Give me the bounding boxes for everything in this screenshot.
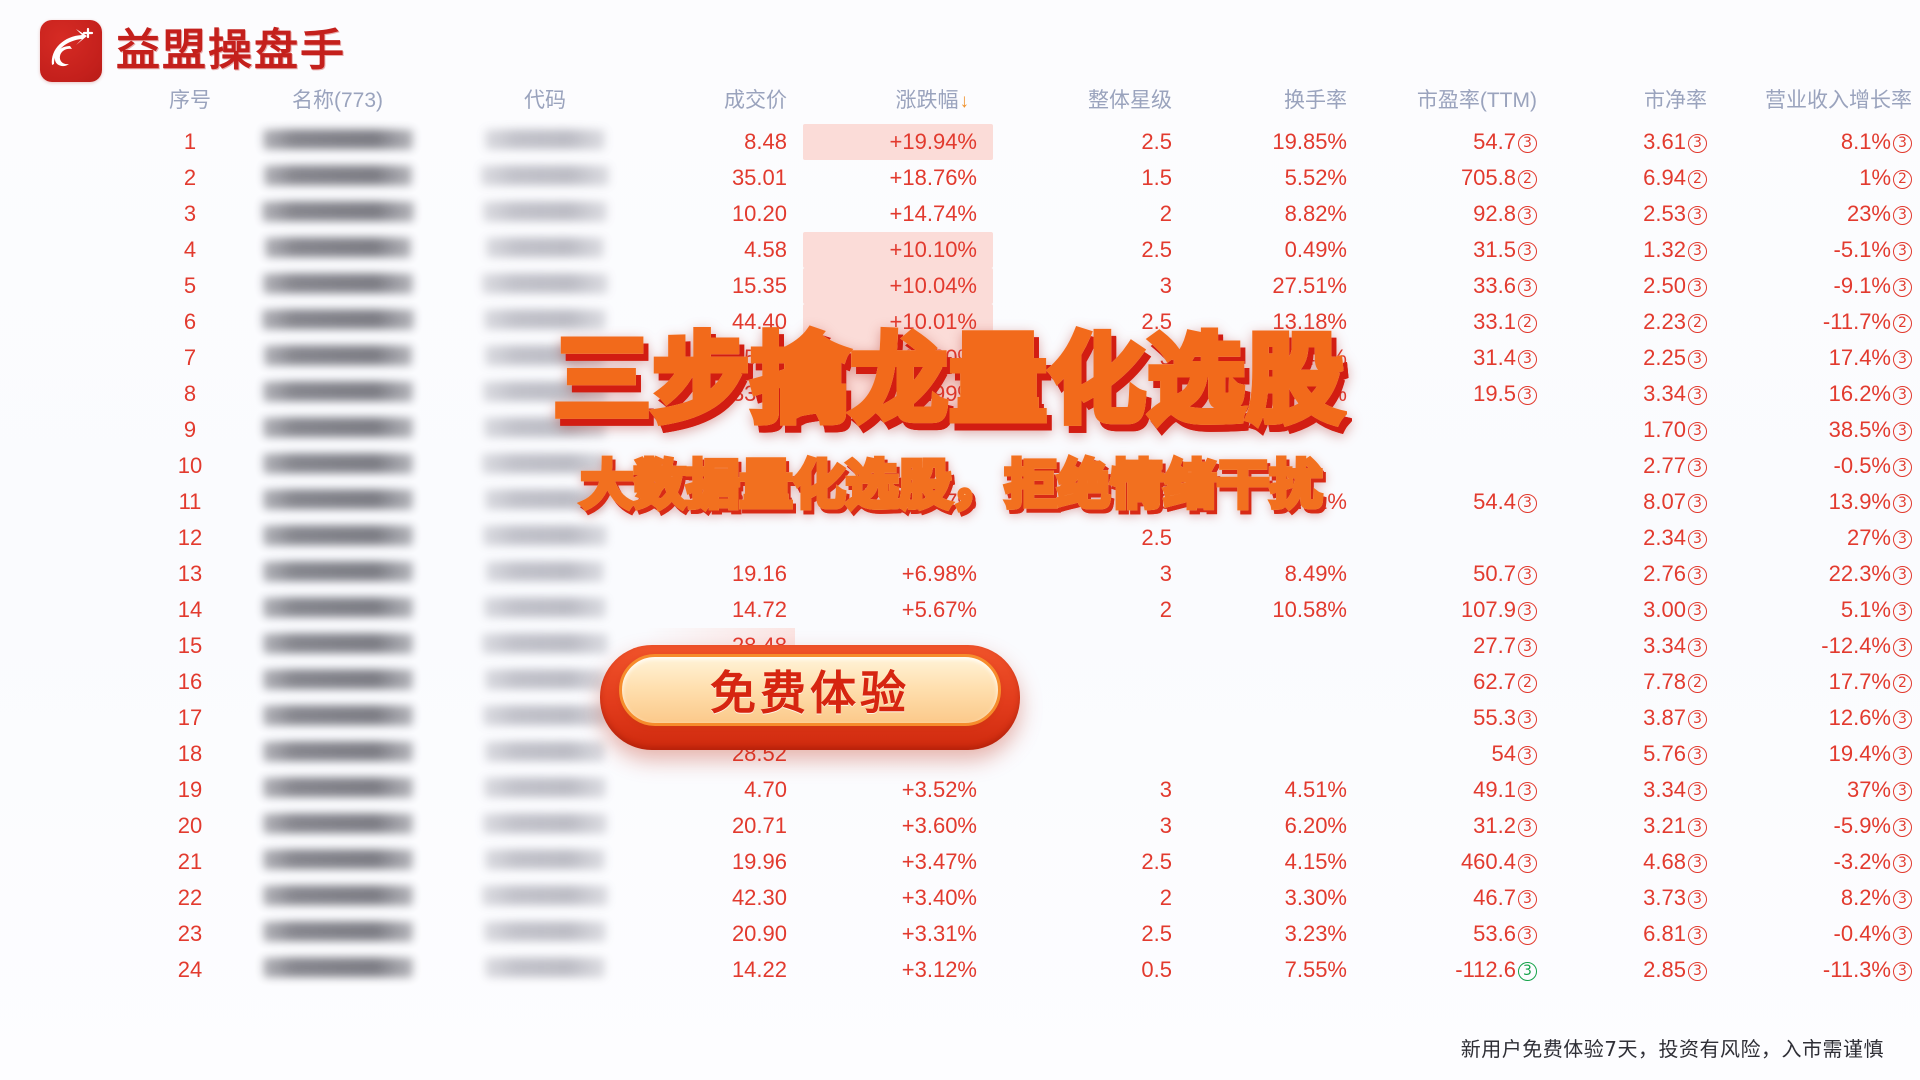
cell-name-censored[interactable] bbox=[230, 304, 445, 340]
cell-index: 22 bbox=[150, 880, 230, 916]
free-trial-cta[interactable]: 免费体验 bbox=[600, 645, 1020, 750]
cell-pb: 3.003 bbox=[1545, 592, 1715, 628]
cell-pb: 2.533 bbox=[1545, 196, 1715, 232]
table-row[interactable]: 194.70+3.52%34.51%49.133.34337%3 bbox=[150, 772, 1920, 808]
cell-revenue-growth: 19.4%3 bbox=[1715, 736, 1920, 772]
cell-index: 10 bbox=[150, 448, 230, 484]
table-row[interactable]: 1828.525435.76319.4%3 bbox=[150, 736, 1920, 772]
cell-turnover bbox=[1180, 520, 1355, 556]
cell-pe: 62.72 bbox=[1355, 664, 1545, 700]
rank-badge: 3 bbox=[1688, 890, 1707, 909]
cell-index: 15 bbox=[150, 628, 230, 664]
table-row[interactable]: 2242.30+3.40%23.30%46.733.7338.2%3 bbox=[150, 880, 1920, 916]
censored-name-bar bbox=[263, 633, 413, 653]
cell-stars: 2.5 bbox=[985, 520, 1180, 556]
cell-turnover: 13.18% bbox=[1180, 304, 1355, 340]
cell-change: +10.10% bbox=[795, 232, 985, 268]
cell-name-censored[interactable] bbox=[230, 592, 445, 628]
cell-price: 19.96 bbox=[645, 844, 795, 880]
cell-code-censored[interactable] bbox=[445, 592, 645, 628]
rank-badge: 3 bbox=[1893, 458, 1912, 477]
rank-badge: 3 bbox=[1688, 710, 1707, 729]
cell-change: +19.94% bbox=[795, 124, 985, 160]
rank-badge: 3 bbox=[1688, 278, 1707, 297]
cell-name-censored[interactable] bbox=[230, 952, 445, 988]
cell-name-censored[interactable] bbox=[230, 772, 445, 808]
rank-badge: 3 bbox=[1518, 746, 1537, 765]
cell-turnover: 5.52% bbox=[1180, 160, 1355, 196]
rank-badge: 3 bbox=[1688, 746, 1707, 765]
cell-price: 4.58 bbox=[645, 232, 795, 268]
cell-name-censored[interactable] bbox=[230, 664, 445, 700]
rank-badge: 2 bbox=[1518, 170, 1537, 189]
rank-badge: 3 bbox=[1688, 386, 1707, 405]
rank-badge: 3 bbox=[1893, 386, 1912, 405]
column-header-stars[interactable]: 整体星级 bbox=[985, 80, 1180, 124]
cell-pb: 8.073 bbox=[1545, 484, 1715, 520]
table-row[interactable]: 310.20+14.74%28.82%92.832.53323%3 bbox=[150, 196, 1920, 232]
column-header-price[interactable]: 成交价 bbox=[645, 80, 795, 124]
cell-code-censored[interactable] bbox=[445, 952, 645, 988]
rank-badge: 3 bbox=[1518, 818, 1537, 837]
cell-stars bbox=[985, 412, 1180, 448]
censored-name-bar bbox=[263, 705, 413, 725]
cell-stars: 3 bbox=[985, 340, 1180, 376]
table-row[interactable]: 1528.4827.733.343-12.4%3 bbox=[150, 628, 1920, 664]
rank-badge: 3 bbox=[1893, 242, 1912, 261]
cell-turnover: 10.58% bbox=[1180, 592, 1355, 628]
rank-badge: 3 bbox=[1518, 602, 1537, 621]
rank-badge: 3 bbox=[1518, 242, 1537, 261]
rank-badge: 3 bbox=[1893, 782, 1912, 801]
cell-pe: 54.73 bbox=[1355, 124, 1545, 160]
table-row[interactable]: 1655.0762.727.78217.7%2 bbox=[150, 664, 1920, 700]
table-row[interactable]: 2414.22+3.12%0.57.55%-112.632.853-11.3%3 bbox=[150, 952, 1920, 988]
cell-pe: 53.63 bbox=[1355, 916, 1545, 952]
rank-badge: 2 bbox=[1518, 674, 1537, 693]
cell-index: 14 bbox=[150, 592, 230, 628]
cell-code-censored[interactable] bbox=[445, 160, 645, 196]
change-highlight: +9.99% bbox=[803, 376, 993, 412]
sort-desc-icon: ↓ bbox=[960, 91, 970, 112]
cell-index: 23 bbox=[150, 916, 230, 952]
cell-pe: 54.43 bbox=[1355, 484, 1545, 520]
cell-revenue-growth: 1%2 bbox=[1715, 160, 1920, 196]
cell-code-censored[interactable] bbox=[445, 376, 645, 412]
table-row[interactable]: 2119.96+3.47%2.54.15%460.434.683-3.2%3 bbox=[150, 844, 1920, 880]
rank-badge: 2 bbox=[1893, 674, 1912, 693]
cell-turnover: 7.55% bbox=[1180, 952, 1355, 988]
cell-turnover: 3.23% bbox=[1180, 916, 1355, 952]
cell-index: 17 bbox=[150, 700, 230, 736]
rank-badge: 3 bbox=[1518, 638, 1537, 657]
cell-name-censored[interactable] bbox=[230, 700, 445, 736]
censored-code-bar bbox=[483, 201, 607, 221]
rank-badge: 3 bbox=[1688, 494, 1707, 513]
cell-pb: 1.323 bbox=[1545, 232, 1715, 268]
censored-name-bar bbox=[263, 849, 413, 869]
cell-stars: 2 bbox=[985, 880, 1180, 916]
cell-change: +10.00% bbox=[795, 340, 985, 376]
column-header-change-label: 涨跌幅 bbox=[896, 89, 959, 112]
censored-code-bar bbox=[485, 957, 605, 977]
table-row[interactable]: 1120.10+8.77%316.01%54.438.07313.9%3 bbox=[150, 484, 1920, 520]
cell-code-censored[interactable] bbox=[445, 412, 645, 448]
cell-pb: 5.763 bbox=[1545, 736, 1715, 772]
cell-pb: 3.343 bbox=[1545, 628, 1715, 664]
cell-pe: 107.93 bbox=[1355, 592, 1545, 628]
censored-name-bar bbox=[263, 597, 413, 617]
censored-name-bar bbox=[263, 777, 413, 797]
cell-stars: 2.5 bbox=[985, 232, 1180, 268]
table-row[interactable]: 122.52.34327%3 bbox=[150, 520, 1920, 556]
cell-turnover: 16.01% bbox=[1180, 484, 1355, 520]
cell-pe: 19.53 bbox=[1355, 376, 1545, 412]
cell-change: +5.67% bbox=[795, 592, 985, 628]
rank-badge: 3 bbox=[1518, 962, 1537, 981]
cell-name-censored[interactable] bbox=[230, 844, 445, 880]
cell-name-censored[interactable] bbox=[230, 448, 445, 484]
censored-code-bar bbox=[484, 777, 606, 797]
cell-pb: 6.813 bbox=[1545, 916, 1715, 952]
rank-badge: 2 bbox=[1688, 314, 1707, 333]
cell-price: 20.10 bbox=[645, 484, 795, 520]
cell-name-censored[interactable] bbox=[230, 628, 445, 664]
rank-badge: 3 bbox=[1893, 134, 1912, 153]
censored-code-bar bbox=[484, 597, 606, 617]
rank-badge: 2 bbox=[1893, 170, 1912, 189]
column-header-name[interactable]: 名称(773) bbox=[230, 80, 445, 124]
censored-name-bar bbox=[264, 165, 412, 185]
cell-pb: 2.343 bbox=[1545, 520, 1715, 556]
cell-index: 13 bbox=[150, 556, 230, 592]
cell-turnover: 0.49% bbox=[1180, 232, 1355, 268]
cell-code-censored[interactable] bbox=[445, 304, 645, 340]
censored-name-bar bbox=[263, 525, 413, 545]
censored-name-bar bbox=[263, 129, 413, 149]
cell-code-censored[interactable] bbox=[445, 232, 645, 268]
cell-pe: 705.82 bbox=[1355, 160, 1545, 196]
cell-change: +3.52% bbox=[795, 772, 985, 808]
cell-pe: 55.33 bbox=[1355, 700, 1545, 736]
cell-stars: 2 bbox=[985, 196, 1180, 232]
cell-stars: 3 bbox=[985, 808, 1180, 844]
cell-stars: 3 bbox=[985, 268, 1180, 304]
disclaimer-text: 新用户免费体验7天，投资有风险，入市需谨慎 bbox=[1461, 1033, 1884, 1062]
cell-index: 12 bbox=[150, 520, 230, 556]
cell-pb: 3.613 bbox=[1545, 124, 1715, 160]
cell-index: 1 bbox=[150, 124, 230, 160]
cell-name-censored[interactable] bbox=[230, 556, 445, 592]
rank-badge: 3 bbox=[1893, 602, 1912, 621]
cell-price: 14.72 bbox=[645, 592, 795, 628]
cell-revenue-growth: -11.7%2 bbox=[1715, 304, 1920, 340]
rank-badge: 3 bbox=[1893, 422, 1912, 441]
cell-price bbox=[645, 448, 795, 484]
cell-revenue-growth: 12.6%3 bbox=[1715, 700, 1920, 736]
cell-pb: 2.503 bbox=[1545, 268, 1715, 304]
censored-code-bar bbox=[483, 813, 607, 833]
table-row[interactable]: 2320.90+3.31%2.53.23%53.636.813-0.4%3 bbox=[150, 916, 1920, 952]
cell-index: 7 bbox=[150, 340, 230, 376]
cell-change: +10.01% bbox=[795, 304, 985, 340]
rank-badge: 3 bbox=[1893, 530, 1912, 549]
rank-badge: 3 bbox=[1688, 926, 1707, 945]
rank-badge: 3 bbox=[1893, 818, 1912, 837]
cell-pb: 2.773 bbox=[1545, 448, 1715, 484]
rank-badge: 3 bbox=[1893, 350, 1912, 369]
table-row[interactable]: 44.58+10.10%2.50.49%31.531.323-5.1%3 bbox=[150, 232, 1920, 268]
column-header-code[interactable]: 代码 bbox=[445, 80, 645, 124]
rank-badge: 3 bbox=[1688, 818, 1707, 837]
cell-turnover: 4.51% bbox=[1180, 772, 1355, 808]
cell-revenue-growth: 22.3%3 bbox=[1715, 556, 1920, 592]
column-header-revenue-growth[interactable]: 营业收入增长率 bbox=[1715, 80, 1920, 124]
cell-price: 15.35 bbox=[645, 268, 795, 304]
table-row[interactable]: 1737.7055.333.87312.6%3 bbox=[150, 700, 1920, 736]
censored-code-bar bbox=[483, 381, 607, 401]
cell-name-censored[interactable] bbox=[230, 808, 445, 844]
censored-code-bar bbox=[484, 417, 606, 437]
column-header-pb[interactable]: 市净率 bbox=[1545, 80, 1715, 124]
rank-badge: 2 bbox=[1688, 170, 1707, 189]
rank-badge: 3 bbox=[1518, 386, 1537, 405]
rank-badge: 3 bbox=[1688, 854, 1707, 873]
cell-revenue-growth: 8.2%3 bbox=[1715, 880, 1920, 916]
column-header-index[interactable]: 序号 bbox=[150, 80, 230, 124]
table-header-row: 序号 名称(773) 代码 成交价 涨跌幅↓ 整体星级 换手率 市盈率(TTM)… bbox=[150, 80, 1920, 124]
rank-badge: 3 bbox=[1688, 206, 1707, 225]
cell-code-censored[interactable] bbox=[445, 196, 645, 232]
censored-name-bar bbox=[263, 813, 413, 833]
censored-code-bar bbox=[481, 165, 609, 185]
cell-pe: 46.73 bbox=[1355, 880, 1545, 916]
cell-change: +3.31% bbox=[795, 916, 985, 952]
table-row[interactable]: 91.70338.5%3 bbox=[150, 412, 1920, 448]
cell-pb: 3.343 bbox=[1545, 376, 1715, 412]
table-row[interactable]: 515.35+10.04%327.51%33.632.503-9.1%3 bbox=[150, 268, 1920, 304]
cell-revenue-growth: 23%3 bbox=[1715, 196, 1920, 232]
cell-revenue-growth: 27%3 bbox=[1715, 520, 1920, 556]
cell-name-censored[interactable] bbox=[230, 124, 445, 160]
cell-name-censored[interactable] bbox=[230, 376, 445, 412]
cell-stars: 3 bbox=[985, 556, 1180, 592]
cell-pe: 92.83 bbox=[1355, 196, 1545, 232]
cell-code-censored[interactable] bbox=[445, 124, 645, 160]
change-highlight: +10.04% bbox=[803, 268, 993, 304]
censored-name-bar bbox=[264, 345, 412, 365]
table-row[interactable]: 18.48+19.94%2.519.85%54.733.6138.1%3 bbox=[150, 124, 1920, 160]
censored-code-bar bbox=[486, 237, 604, 257]
cell-revenue-growth: 38.5%3 bbox=[1715, 412, 1920, 448]
cell-stars: 2.5 bbox=[985, 124, 1180, 160]
rank-badge: 3 bbox=[1688, 134, 1707, 153]
cell-turnover: 6.20% bbox=[1180, 808, 1355, 844]
censored-code-bar bbox=[482, 453, 608, 473]
cell-code-censored[interactable] bbox=[445, 916, 645, 952]
rank-badge: 2 bbox=[1893, 314, 1912, 333]
censored-name-bar bbox=[263, 921, 413, 941]
cell-revenue-growth: 17.4%3 bbox=[1715, 340, 1920, 376]
censored-name-bar bbox=[263, 885, 413, 905]
table-row[interactable]: 102.773-0.5%3 bbox=[150, 448, 1920, 484]
cell-pe: 33.63 bbox=[1355, 268, 1545, 304]
stock-table-container: 序号 名称(773) 代码 成交价 涨跌幅↓ 整体星级 换手率 市盈率(TTM)… bbox=[150, 80, 1890, 988]
rank-badge: 3 bbox=[1518, 710, 1537, 729]
cell-turnover bbox=[1180, 700, 1355, 736]
table-row[interactable]: 833.90+9.99%20.44%19.533.34316.2%3 bbox=[150, 376, 1920, 412]
cell-revenue-growth: -5.1%3 bbox=[1715, 232, 1920, 268]
cell-pb: 6.942 bbox=[1545, 160, 1715, 196]
cell-name-censored[interactable] bbox=[230, 520, 445, 556]
cell-index: 18 bbox=[150, 736, 230, 772]
censored-code-bar bbox=[483, 705, 607, 725]
cell-change: +8.77% bbox=[795, 484, 985, 520]
cell-pb: 7.782 bbox=[1545, 664, 1715, 700]
change-highlight: +10.00% bbox=[803, 340, 993, 376]
cell-turnover: 21.41% bbox=[1180, 340, 1355, 376]
rank-badge: 3 bbox=[1893, 638, 1912, 657]
censored-name-bar bbox=[263, 957, 413, 977]
censored-code-bar bbox=[482, 885, 608, 905]
cell-price: 10.20 bbox=[645, 196, 795, 232]
censored-name-bar bbox=[263, 417, 413, 437]
cell-name-censored[interactable] bbox=[230, 232, 445, 268]
cell-turnover: 19.85% bbox=[1180, 124, 1355, 160]
table-row[interactable]: 2020.71+3.60%36.20%31.233.213-5.9%3 bbox=[150, 808, 1920, 844]
table-row[interactable]: 235.01+18.76%1.55.52%705.826.9421%2 bbox=[150, 160, 1920, 196]
cell-pe bbox=[1355, 412, 1545, 448]
censored-code-bar bbox=[483, 525, 607, 545]
cell-price: 20.90 bbox=[645, 916, 795, 952]
cell-name-censored[interactable] bbox=[230, 412, 445, 448]
cell-change: +3.60% bbox=[795, 808, 985, 844]
cell-turnover: 4.15% bbox=[1180, 844, 1355, 880]
cell-pe: 31.23 bbox=[1355, 808, 1545, 844]
cell-code-censored[interactable] bbox=[445, 520, 645, 556]
cell-price: 35.64 bbox=[645, 340, 795, 376]
cell-index: 5 bbox=[150, 268, 230, 304]
column-header-turnover[interactable]: 换手率 bbox=[1180, 80, 1355, 124]
table-row[interactable]: 735.64+10.00%321.41%31.432.25317.4%3 bbox=[150, 340, 1920, 376]
cell-price bbox=[645, 520, 795, 556]
rank-badge: 2 bbox=[1518, 314, 1537, 333]
cell-code-censored[interactable] bbox=[445, 340, 645, 376]
cell-change: +9.99% bbox=[795, 376, 985, 412]
censored-name-bar bbox=[265, 237, 411, 257]
cell-change: +6.98% bbox=[795, 556, 985, 592]
cell-change bbox=[795, 412, 985, 448]
rank-badge: 3 bbox=[1893, 926, 1912, 945]
table-row[interactable]: 1319.16+6.98%38.49%50.732.76322.3%3 bbox=[150, 556, 1920, 592]
cell-code-censored[interactable] bbox=[445, 808, 645, 844]
cell-code-censored[interactable] bbox=[445, 556, 645, 592]
censored-name-bar bbox=[263, 669, 413, 689]
free-trial-button-face: 免费体验 bbox=[619, 654, 1001, 726]
stock-table-body: 18.48+19.94%2.519.85%54.733.6138.1%3235.… bbox=[150, 124, 1920, 988]
cell-turnover: 8.82% bbox=[1180, 196, 1355, 232]
cell-index: 3 bbox=[150, 196, 230, 232]
cell-revenue-growth: -12.4%3 bbox=[1715, 628, 1920, 664]
censored-code-bar bbox=[485, 129, 605, 149]
cell-pb: 3.213 bbox=[1545, 808, 1715, 844]
cell-price: 14.22 bbox=[645, 952, 795, 988]
cell-pb: 3.873 bbox=[1545, 700, 1715, 736]
censored-code-bar bbox=[486, 561, 604, 581]
cell-turnover: 8.49% bbox=[1180, 556, 1355, 592]
cell-turnover bbox=[1180, 736, 1355, 772]
cell-code-censored[interactable] bbox=[445, 880, 645, 916]
cell-index: 16 bbox=[150, 664, 230, 700]
cell-index: 20 bbox=[150, 808, 230, 844]
cell-change: +3.40% bbox=[795, 880, 985, 916]
cell-code-censored[interactable] bbox=[445, 484, 645, 520]
stock-table: 序号 名称(773) 代码 成交价 涨跌幅↓ 整体星级 换手率 市盈率(TTM)… bbox=[150, 80, 1920, 988]
rank-badge: 3 bbox=[1688, 602, 1707, 621]
rank-badge: 3 bbox=[1518, 926, 1537, 945]
rank-badge: 3 bbox=[1518, 494, 1537, 513]
cell-name-censored[interactable] bbox=[230, 268, 445, 304]
cell-pe: -112.63 bbox=[1355, 952, 1545, 988]
rank-badge: 3 bbox=[1518, 278, 1537, 297]
cell-stars: 2 bbox=[985, 376, 1180, 412]
rank-badge: 3 bbox=[1518, 890, 1537, 909]
censored-name-bar bbox=[262, 201, 414, 221]
free-trial-button[interactable]: 免费体验 bbox=[600, 645, 1020, 750]
rank-badge: 3 bbox=[1688, 530, 1707, 549]
cell-name-censored[interactable] bbox=[230, 484, 445, 520]
cell-turnover: 27.51% bbox=[1180, 268, 1355, 304]
cell-revenue-growth: 17.7%2 bbox=[1715, 664, 1920, 700]
cell-index: 4 bbox=[150, 232, 230, 268]
cell-code-censored[interactable] bbox=[445, 268, 645, 304]
rank-badge: 3 bbox=[1893, 710, 1912, 729]
brand-name: 益盟操盘手 bbox=[116, 29, 346, 73]
rank-badge: 3 bbox=[1893, 746, 1912, 765]
rank-badge: 3 bbox=[1893, 278, 1912, 297]
change-highlight: +10.01% bbox=[803, 304, 993, 340]
cell-stars: 2.5 bbox=[985, 916, 1180, 952]
cell-name-censored[interactable] bbox=[230, 916, 445, 952]
cell-code-censored[interactable] bbox=[445, 772, 645, 808]
cell-stars: 0.5 bbox=[985, 952, 1180, 988]
censored-name-bar bbox=[263, 381, 413, 401]
cell-code-censored[interactable] bbox=[445, 844, 645, 880]
censored-code-bar bbox=[485, 669, 605, 689]
cell-stars: 2.5 bbox=[985, 304, 1180, 340]
cell-name-censored[interactable] bbox=[230, 160, 445, 196]
rank-badge: 3 bbox=[1688, 566, 1707, 585]
cell-index: 8 bbox=[150, 376, 230, 412]
censored-code-bar bbox=[484, 921, 606, 941]
rank-badge: 3 bbox=[1893, 890, 1912, 909]
column-header-change[interactable]: 涨跌幅↓ bbox=[795, 80, 985, 124]
cell-name-censored[interactable] bbox=[230, 736, 445, 772]
cell-name-censored[interactable] bbox=[230, 340, 445, 376]
table-row[interactable]: 644.40+10.01%2.513.18%33.122.232-11.7%2 bbox=[150, 304, 1920, 340]
cell-name-censored[interactable] bbox=[230, 196, 445, 232]
column-header-pe[interactable]: 市盈率(TTM) bbox=[1355, 80, 1545, 124]
cell-change bbox=[795, 520, 985, 556]
cell-stars: 2.5 bbox=[985, 844, 1180, 880]
cell-pe bbox=[1355, 448, 1545, 484]
cell-code-censored[interactable] bbox=[445, 448, 645, 484]
rank-badge: 3 bbox=[1893, 494, 1912, 513]
cell-revenue-growth: 37%3 bbox=[1715, 772, 1920, 808]
cell-name-censored[interactable] bbox=[230, 880, 445, 916]
table-row[interactable]: 1414.72+5.67%210.58%107.933.0035.1%3 bbox=[150, 592, 1920, 628]
cell-stars bbox=[985, 448, 1180, 484]
